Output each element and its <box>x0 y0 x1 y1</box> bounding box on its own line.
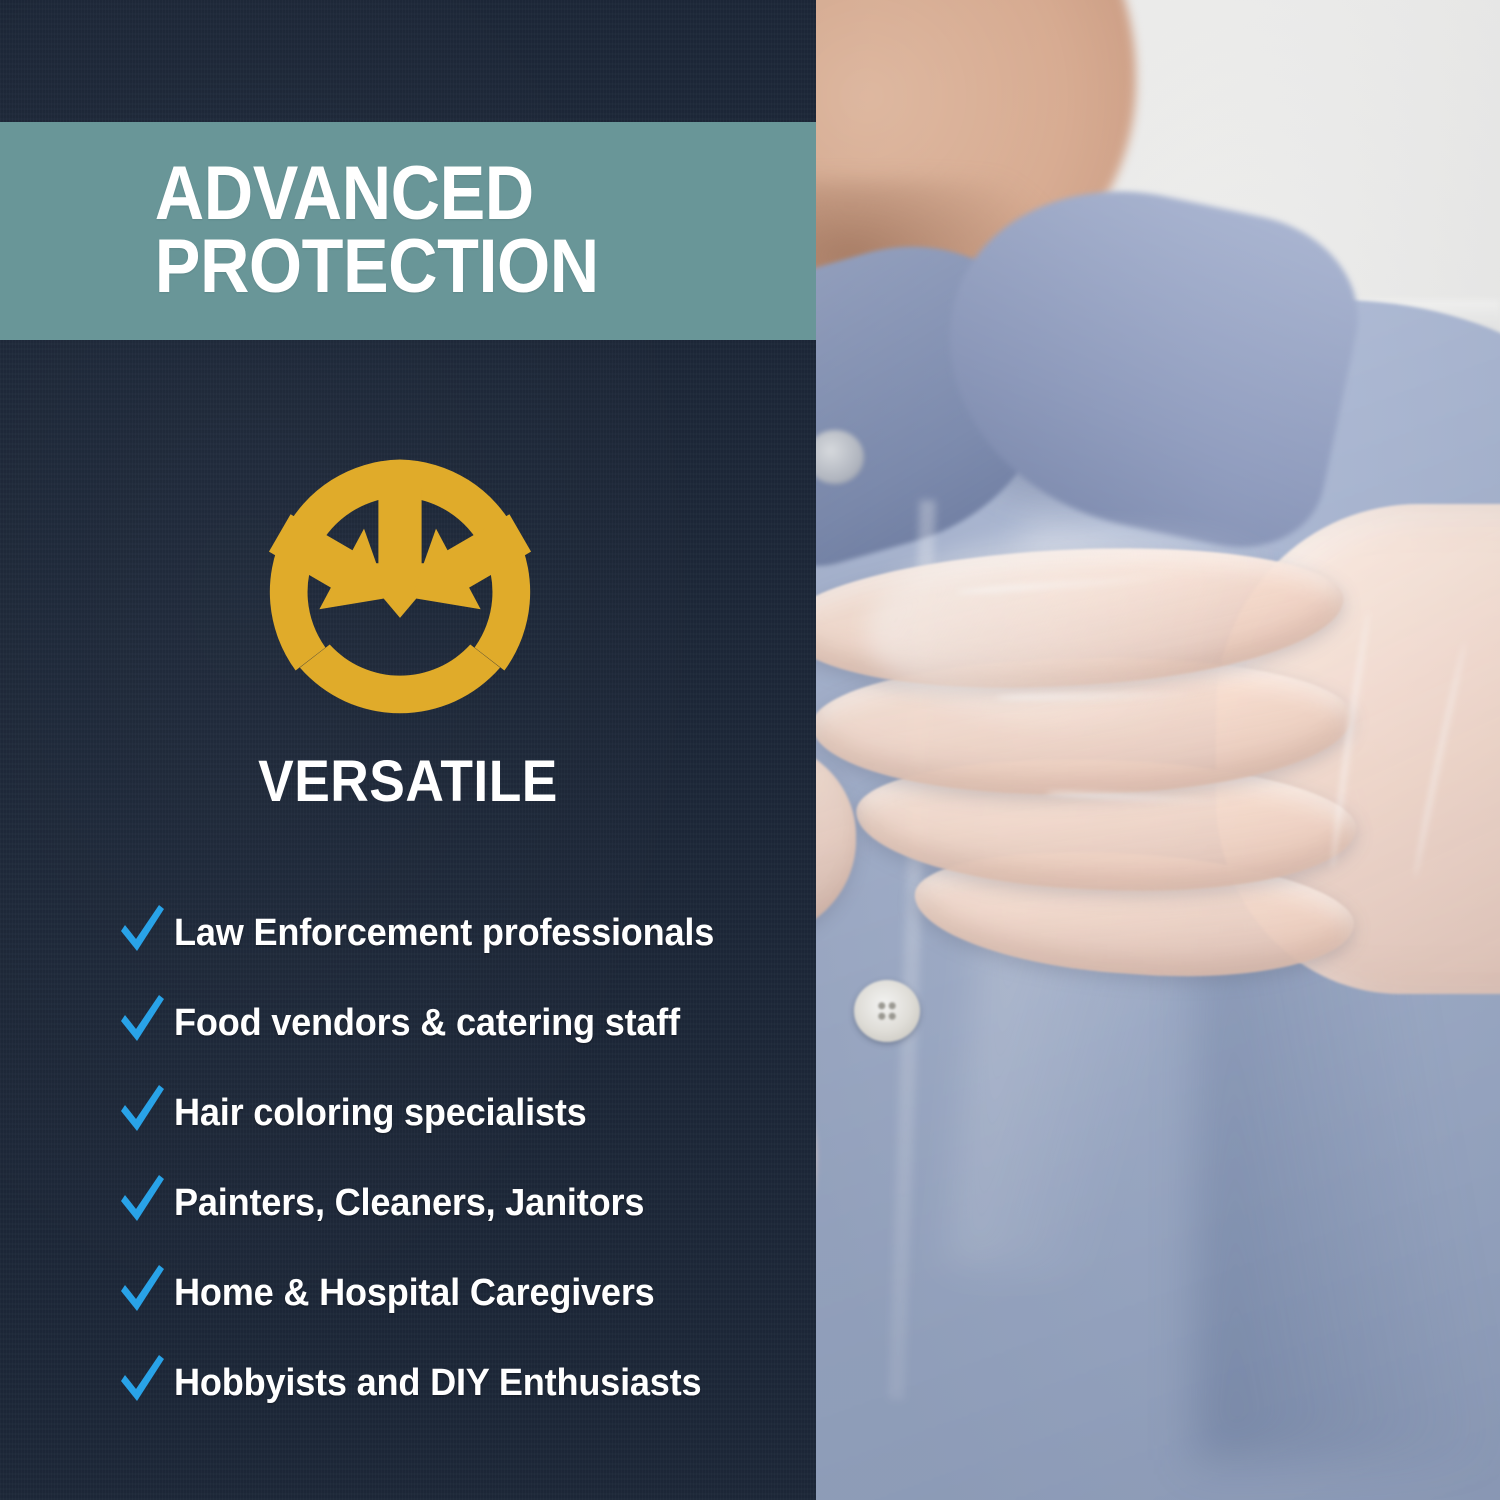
list-item: Hobbyists and DIY Enthusiasts <box>118 1338 816 1428</box>
glove-sheen <box>866 530 1386 730</box>
list-item-label: Hobbyists and DIY Enthusiasts <box>174 1362 701 1405</box>
product-infographic: ADVANCED PROTECTION <box>0 0 1500 1500</box>
product-photo <box>816 0 1500 1500</box>
list-item-label: Food vendors & catering staff <box>174 1002 680 1045</box>
versatile-arrows-icon <box>256 448 544 736</box>
list-item-label: Hair coloring specialists <box>174 1092 587 1135</box>
list-item: Home & Hospital Caregivers <box>118 1248 816 1338</box>
list-item-label: Home & Hospital Caregivers <box>174 1272 655 1315</box>
list-item: Law Enforcement professionals <box>118 888 816 978</box>
check-icon <box>118 1083 166 1135</box>
header-banner: ADVANCED PROTECTION <box>0 122 816 340</box>
benefits-list: Law Enforcement professionals Food vendo… <box>118 888 816 1428</box>
check-icon <box>118 993 166 1045</box>
check-icon <box>118 1353 166 1405</box>
check-icon <box>118 903 166 955</box>
gloved-hand <box>816 430 1500 990</box>
list-item-label: Painters, Cleaners, Janitors <box>174 1182 644 1225</box>
list-item-label: Law Enforcement professionals <box>174 912 714 955</box>
left-info-panel: ADVANCED PROTECTION <box>0 0 816 1500</box>
check-icon <box>118 1263 166 1315</box>
check-icon <box>118 1173 166 1225</box>
feature-label: VERSATILE <box>33 748 784 815</box>
list-item: Hair coloring specialists <box>118 1068 816 1158</box>
list-item: Painters, Cleaners, Janitors <box>118 1158 816 1248</box>
list-item: Food vendors & catering staff <box>118 978 816 1068</box>
page-title: ADVANCED PROTECTION <box>0 158 599 304</box>
